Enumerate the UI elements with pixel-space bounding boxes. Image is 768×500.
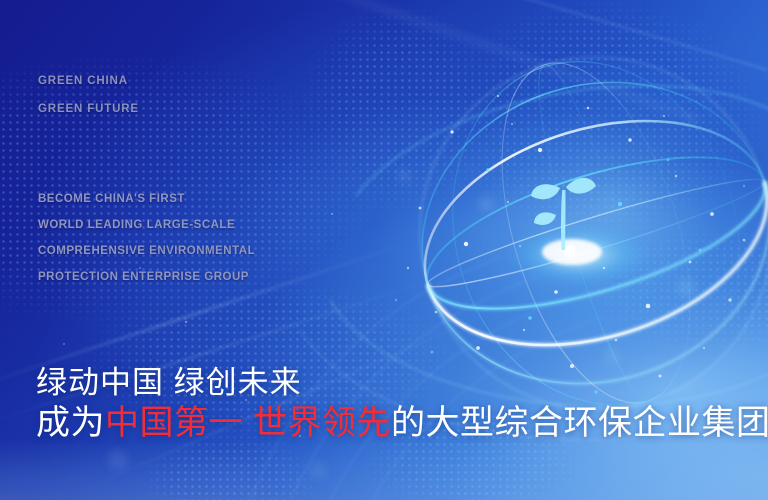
- headline-prefix: 成为: [36, 404, 105, 442]
- tagline-green-china: GREEN CHINA: [38, 76, 128, 88]
- headline-accent: 中国第一 世界领先: [105, 404, 391, 442]
- mission-line-1: BECOME CHINA'S FIRST: [38, 186, 255, 212]
- headline-block: 绿动中国 绿创未来 成为中国第一 世界领先的大型综合环保企业集团: [36, 362, 768, 444]
- mission-line-4: PROTECTION ENTERPRISE GROUP: [38, 264, 255, 290]
- hero-banner: GREEN CHINA GREEN FUTURE BECOME CHINA'S …: [0, 0, 768, 500]
- headline-line-2: 成为中国第一 世界领先的大型综合环保企业集团: [36, 402, 768, 444]
- tagline-green-future: GREEN FUTURE: [38, 104, 139, 116]
- globe-core-glow: [504, 225, 652, 285]
- bottom-sheen: [0, 438, 768, 500]
- headline-suffix: 的大型综合环保企业集团: [391, 404, 768, 442]
- mission-line-2: WORLD LEADING LARGE-SCALE: [38, 212, 255, 238]
- mission-statement: BECOME CHINA'S FIRST WORLD LEADING LARGE…: [38, 186, 255, 290]
- mission-line-3: COMPREHENSIVE ENVIRONMENTAL: [38, 238, 255, 264]
- headline-line-1: 绿动中国 绿创未来: [36, 362, 768, 404]
